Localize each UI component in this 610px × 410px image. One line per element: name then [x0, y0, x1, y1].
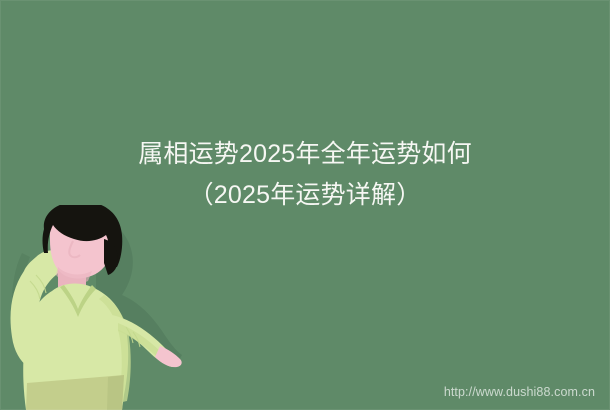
title-line-1: 属相运势2025年全年运势如何: [0, 134, 610, 175]
banner-image: 属相运势2025年全年运势如何 （2025年运势详解） http://www.d…: [0, 0, 610, 410]
pants-shade: [107, 375, 124, 410]
person-illustration: [0, 205, 230, 410]
title-line-2: （2025年运势详解）: [0, 175, 610, 216]
banner-title: 属相运势2025年全年运势如何 （2025年运势详解）: [0, 134, 610, 216]
source-watermark: http://www.dushi88.com.cn: [444, 385, 595, 400]
